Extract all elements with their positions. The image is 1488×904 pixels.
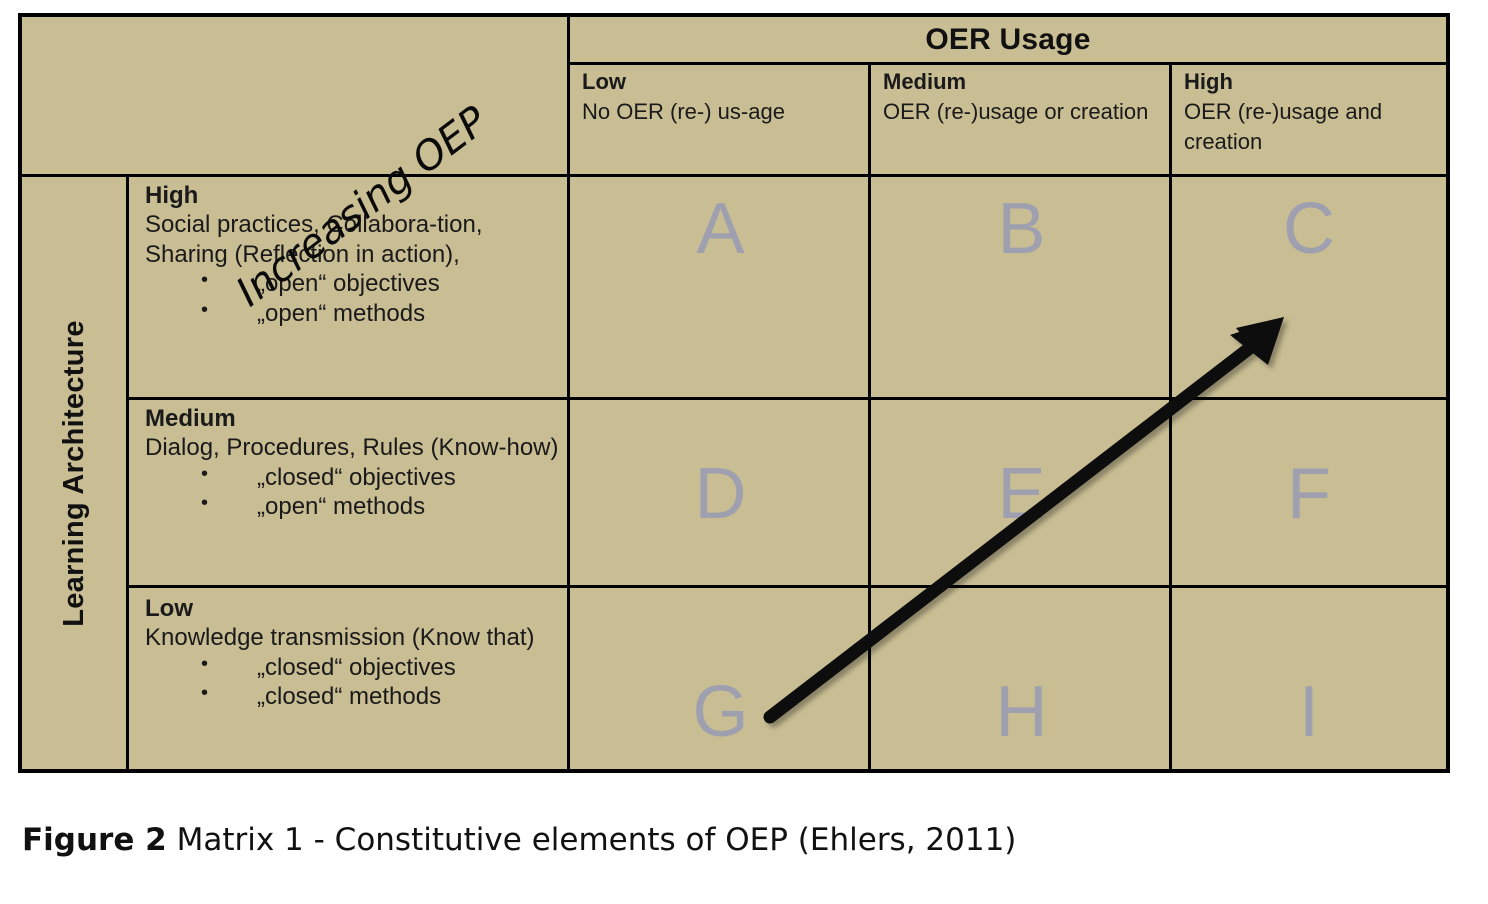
figure-caption: Figure 2 Matrix 1 - Constitutive element… [22,822,1016,858]
matrix-cell-D[interactable]: D [570,400,871,587]
column-header-medium-title: Medium [883,67,1166,97]
column-header-high-description: OER (re-)usage and creation [1184,97,1446,157]
list-item: „open“ methods [145,492,562,522]
column-header-low-title: Low [582,67,868,97]
list-item: „open“ methods [145,299,562,329]
list-item: „open“ objectives [145,269,562,299]
list-item: „closed“ objectives [145,463,562,493]
row-header-medium: Medium Dialog, Procedures, Rules (Know-h… [129,400,570,587]
column-header-low: Low No OER (re-) us-⁠age [570,67,868,177]
list-item: „closed“ methods [145,682,562,712]
header-divider-rule [570,62,1446,65]
figure-container: OER Usage Low No OER (re-) us-⁠age Mediu… [0,0,1488,904]
row-header-low-description: Knowledge transmission (Know that) [145,623,562,652]
matrix-cell-A[interactable]: A [570,177,871,399]
figure-caption-label: Figure 2 [22,822,167,858]
matrix-cell-G-label: G [692,676,748,748]
matrix-cell-D-label: D [695,458,747,530]
row-header-medium-description: Dialog, Procedures, Rules (Know-how) [145,433,562,462]
row-header-low: Low Knowledge transmission (Know that) „… [129,590,570,770]
matrix-cell-I[interactable]: I [1172,588,1446,770]
matrix-cell-H[interactable]: H [871,588,1172,770]
matrix-cell-C[interactable]: C [1172,177,1446,399]
column-divider-low-medium [868,62,871,770]
row-axis-title-text: Learning Architecture [58,320,91,627]
row-header-medium-title: Medium [145,404,562,433]
oep-matrix-table: OER Usage Low No OER (re-) us-⁠age Mediu… [18,13,1450,773]
column-divider-desc-low [567,17,570,770]
matrix-cell-F-label: F [1287,458,1331,530]
row-header-medium-bullets: „closed“ objectives „open“ methods [145,463,562,523]
matrix-cell-A-label: A [696,193,744,265]
row-header-high-bullets: „open“ objectives „open“ methods [145,269,562,329]
column-divider-medium-high [1169,62,1172,770]
matrix-cell-I-label: I [1299,676,1319,748]
column-header-high-title: High [1184,67,1446,97]
matrix-cell-H-label: H [996,676,1048,748]
matrix-cell-E[interactable]: E [871,400,1172,587]
column-axis-title: OER Usage [570,17,1446,62]
matrix-cell-B-label: B [997,193,1045,265]
column-header-low-description: No OER (re-) us-⁠age [582,97,868,127]
row-header-low-bullets: „closed“ objectives „closed“ methods [145,653,562,713]
column-divider-axis [126,174,129,770]
column-header-medium-description: OER (re-)usage or creation [883,97,1166,127]
matrix-cell-C-label: C [1283,193,1335,265]
figure-caption-text: Matrix 1 - Constitutive elements of OEP … [167,822,1017,858]
matrix-cell-F[interactable]: F [1172,400,1446,587]
matrix-cell-E-label: E [997,458,1045,530]
row-axis-title: Learning Architecture [22,177,126,769]
row-divider-top [22,174,1446,177]
row-divider-medium-low [126,585,1446,588]
column-header-high: High OER (re-)usage and creation [1172,67,1446,177]
row-divider-high-medium [126,397,1446,400]
column-header-medium: Medium OER (re-)usage or creation [871,67,1166,177]
list-item: „closed“ objectives [145,653,562,683]
matrix-cell-B[interactable]: B [871,177,1172,399]
matrix-cell-G[interactable]: G [570,588,871,770]
row-header-low-title: Low [145,594,562,623]
